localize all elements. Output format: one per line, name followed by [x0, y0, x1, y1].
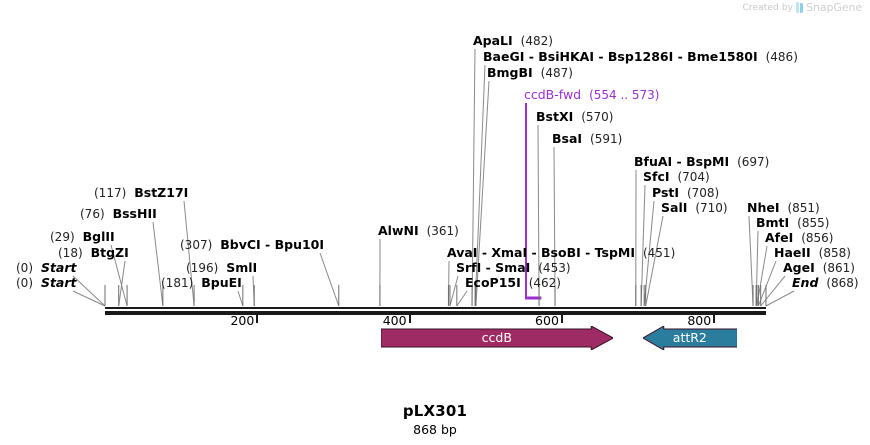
site-position: (462)	[529, 276, 561, 290]
name-separator: -	[481, 260, 495, 275]
enzyme-name: BmgBI	[487, 65, 533, 80]
site-position: (451)	[643, 246, 675, 260]
enzyme-site-label[interactable]: SalI (710)	[661, 201, 728, 215]
site-leader-line	[253, 276, 254, 306]
site-position: (856)	[801, 231, 833, 245]
enzyme-name: SrfI	[456, 260, 481, 275]
ruler-tick	[713, 315, 715, 323]
enzyme-name: BstXI	[536, 109, 573, 124]
ruler-tick	[409, 315, 411, 323]
site-leader-line	[766, 291, 794, 306]
site-leader-line	[457, 291, 467, 306]
site-position: (868)	[826, 276, 858, 290]
site-position: (591)	[590, 132, 622, 146]
enzyme-name: BspMI	[686, 154, 729, 169]
site-position: (855)	[797, 216, 829, 230]
site-position: (487)	[541, 66, 573, 80]
enzyme-name: Bme1580I	[687, 49, 757, 64]
enzyme-name: Bpu10I	[275, 237, 324, 252]
enzyme-site-label[interactable]: (0) Start	[16, 276, 77, 290]
enzyme-name: ApaLI	[473, 33, 513, 48]
site-position: (18)	[58, 246, 83, 260]
name-separator: -	[672, 154, 686, 169]
enzyme-name: BpuEI	[201, 275, 242, 290]
primer-range: (554 .. 573)	[589, 88, 659, 102]
enzyme-name: NheI	[747, 200, 780, 215]
name-separator: -	[524, 49, 538, 64]
site-leader-line	[320, 253, 339, 306]
name-separator: -	[673, 49, 687, 64]
site-leader-line	[448, 261, 449, 306]
enzyme-site-label[interactable]: BsaI (591)	[552, 132, 622, 146]
site-position: (0)	[16, 261, 33, 275]
enzyme-name: SmlI	[226, 260, 257, 275]
site-position: (861)	[823, 261, 855, 275]
name-separator: -	[261, 237, 275, 252]
enzyme-name: TspMI	[595, 245, 635, 260]
site-leader-line	[646, 216, 663, 306]
enzyme-name: BaeGI	[483, 49, 524, 64]
enzyme-site-label[interactable]: BaeGI - BsiHKAI - Bsp1286I - Bme1580I (4…	[483, 50, 798, 64]
enzyme-site-label[interactable]: (29) BglII	[50, 230, 115, 244]
site-position: (851)	[787, 201, 819, 215]
enzyme-site-label[interactable]: AvaI - XmaI - BsoBI - TspMI (451)	[447, 246, 675, 260]
enzyme-name: BssHII	[113, 206, 157, 221]
enzyme-name: End	[792, 275, 818, 290]
enzyme-name: Start	[41, 260, 77, 275]
name-separator: -	[594, 49, 608, 64]
site-leader-line	[450, 276, 458, 306]
enzyme-name: XmaI	[491, 245, 527, 260]
enzyme-name: AfeI	[765, 230, 793, 245]
site-position: (196)	[186, 261, 218, 275]
name-separator: -	[581, 245, 595, 260]
plasmid-size: 868 bp	[0, 422, 870, 437]
enzyme-site-label[interactable]: AlwNI (361)	[378, 224, 459, 238]
enzyme-name: BsaI	[552, 131, 582, 146]
enzyme-site-label[interactable]: AfeI (856)	[765, 231, 833, 245]
site-leader-line	[238, 291, 243, 306]
site-leader-line	[73, 276, 105, 306]
enzyme-site-label[interactable]: SfcI (704)	[643, 170, 710, 184]
enzyme-name: BglII	[83, 229, 115, 244]
enzyme-name: Bsp1286I	[608, 49, 673, 64]
enzyme-site-label[interactable]: BmtI (855)	[756, 216, 829, 230]
site-leader-line	[119, 261, 125, 306]
enzyme-site-label[interactable]: (117) BstZ17I	[94, 186, 188, 200]
enzyme-name: SalI	[661, 200, 687, 215]
enzyme-site-label[interactable]: (307) BbvCI - Bpu10I	[180, 238, 324, 252]
enzyme-name: BmtI	[756, 215, 789, 230]
site-leader-line	[761, 276, 785, 306]
site-position: (710)	[695, 201, 727, 215]
site-position: (704)	[677, 170, 709, 184]
enzyme-name: BbvCI	[220, 237, 260, 252]
enzyme-name: BsiHKAI	[538, 49, 594, 64]
enzyme-site-label[interactable]: BstXI (570)	[536, 110, 613, 124]
enzyme-site-label[interactable]: (196) SmlI	[186, 261, 257, 275]
plasmid-name: pLX301	[0, 402, 870, 420]
enzyme-name: BfuAI	[634, 154, 672, 169]
enzyme-name: SmaI	[495, 260, 530, 275]
map-title-block: pLX301 868 bp	[0, 402, 870, 437]
enzyme-name: BtgZI	[91, 245, 129, 260]
ruler-tick	[561, 315, 563, 323]
enzyme-site-label[interactable]: SrfI - SmaI (453)	[456, 261, 571, 275]
site-leader-line	[184, 201, 194, 306]
enzyme-site-label[interactable]: (181) BpuEI	[161, 276, 242, 290]
backbone-thick-line	[105, 311, 766, 315]
site-position: (453)	[538, 261, 570, 275]
sequence-backbone	[105, 307, 766, 315]
enzyme-site-label[interactable]: HaeII (858)	[774, 246, 851, 260]
feature-arrow[interactable]: attR2	[643, 326, 737, 350]
leader-line-layer	[0, 0, 870, 445]
site-position: (0)	[16, 276, 33, 290]
enzyme-name: AlwNI	[378, 223, 419, 238]
site-leader-line	[73, 291, 105, 306]
site-position: (697)	[737, 155, 769, 169]
enzyme-site-label[interactable]: (0) Start	[16, 261, 77, 275]
site-position: (708)	[687, 186, 719, 200]
site-position: (76)	[80, 207, 105, 221]
enzyme-site-label[interactable]: NheI (851)	[747, 201, 820, 215]
name-separator: -	[527, 245, 541, 260]
enzyme-name: BsoBI	[541, 245, 581, 260]
ruler-label: 200	[230, 313, 254, 328]
site-leader-line	[749, 216, 753, 306]
site-leader-line	[153, 222, 163, 306]
site-position: (486)	[766, 50, 798, 64]
enzyme-site-label[interactable]: BfuAI - BspMI (697)	[634, 155, 769, 169]
feature-arrow[interactable]: ccdB	[381, 326, 613, 350]
site-position: (570)	[581, 110, 613, 124]
enzyme-name: AvaI	[447, 245, 477, 260]
enzyme-site-label[interactable]: AgeI (861)	[783, 261, 855, 275]
enzyme-name: HaeII	[774, 245, 811, 260]
enzyme-name: Start	[41, 275, 77, 290]
primer-name: ccdB-fwd	[524, 87, 581, 102]
enzyme-name: SfcI	[643, 169, 670, 184]
site-position: (858)	[819, 246, 851, 260]
site-position: (117)	[94, 186, 126, 200]
site-leader-line	[758, 261, 776, 306]
enzyme-name: PstI	[652, 185, 679, 200]
enzyme-site-label[interactable]: End (868)	[792, 276, 859, 290]
enzyme-name: AgeI	[783, 260, 815, 275]
enzyme-site-label[interactable]: ApaLI (482)	[473, 34, 553, 48]
enzyme-site-label[interactable]: (76) BssHII	[80, 207, 157, 221]
site-position: (181)	[161, 276, 193, 290]
ruler-tick	[256, 315, 258, 323]
site-position: (361)	[427, 224, 459, 238]
enzyme-name: BstZ17I	[134, 185, 188, 200]
site-position: (29)	[50, 230, 75, 244]
enzyme-name: EcoP15I	[465, 275, 521, 290]
primer-label-ccdb-fwd[interactable]: ccdB-fwd (554 .. 573)	[524, 88, 660, 102]
site-leader-line	[757, 246, 767, 306]
enzyme-site-label[interactable]: (18) BtgZI	[58, 246, 129, 260]
enzyme-site-label[interactable]: EcoP15I (462)	[465, 276, 561, 290]
site-position: (307)	[180, 238, 212, 252]
plasmid-linear-map: ApaLI (482)BaeGI - BsiHKAI - Bsp1286I - …	[0, 0, 870, 445]
site-position: (482)	[521, 34, 553, 48]
site-leader-line	[756, 231, 758, 306]
enzyme-site-label[interactable]: BmgBI (487)	[487, 66, 573, 80]
enzyme-site-label[interactable]: PstI (708)	[652, 186, 719, 200]
name-separator: -	[477, 245, 491, 260]
